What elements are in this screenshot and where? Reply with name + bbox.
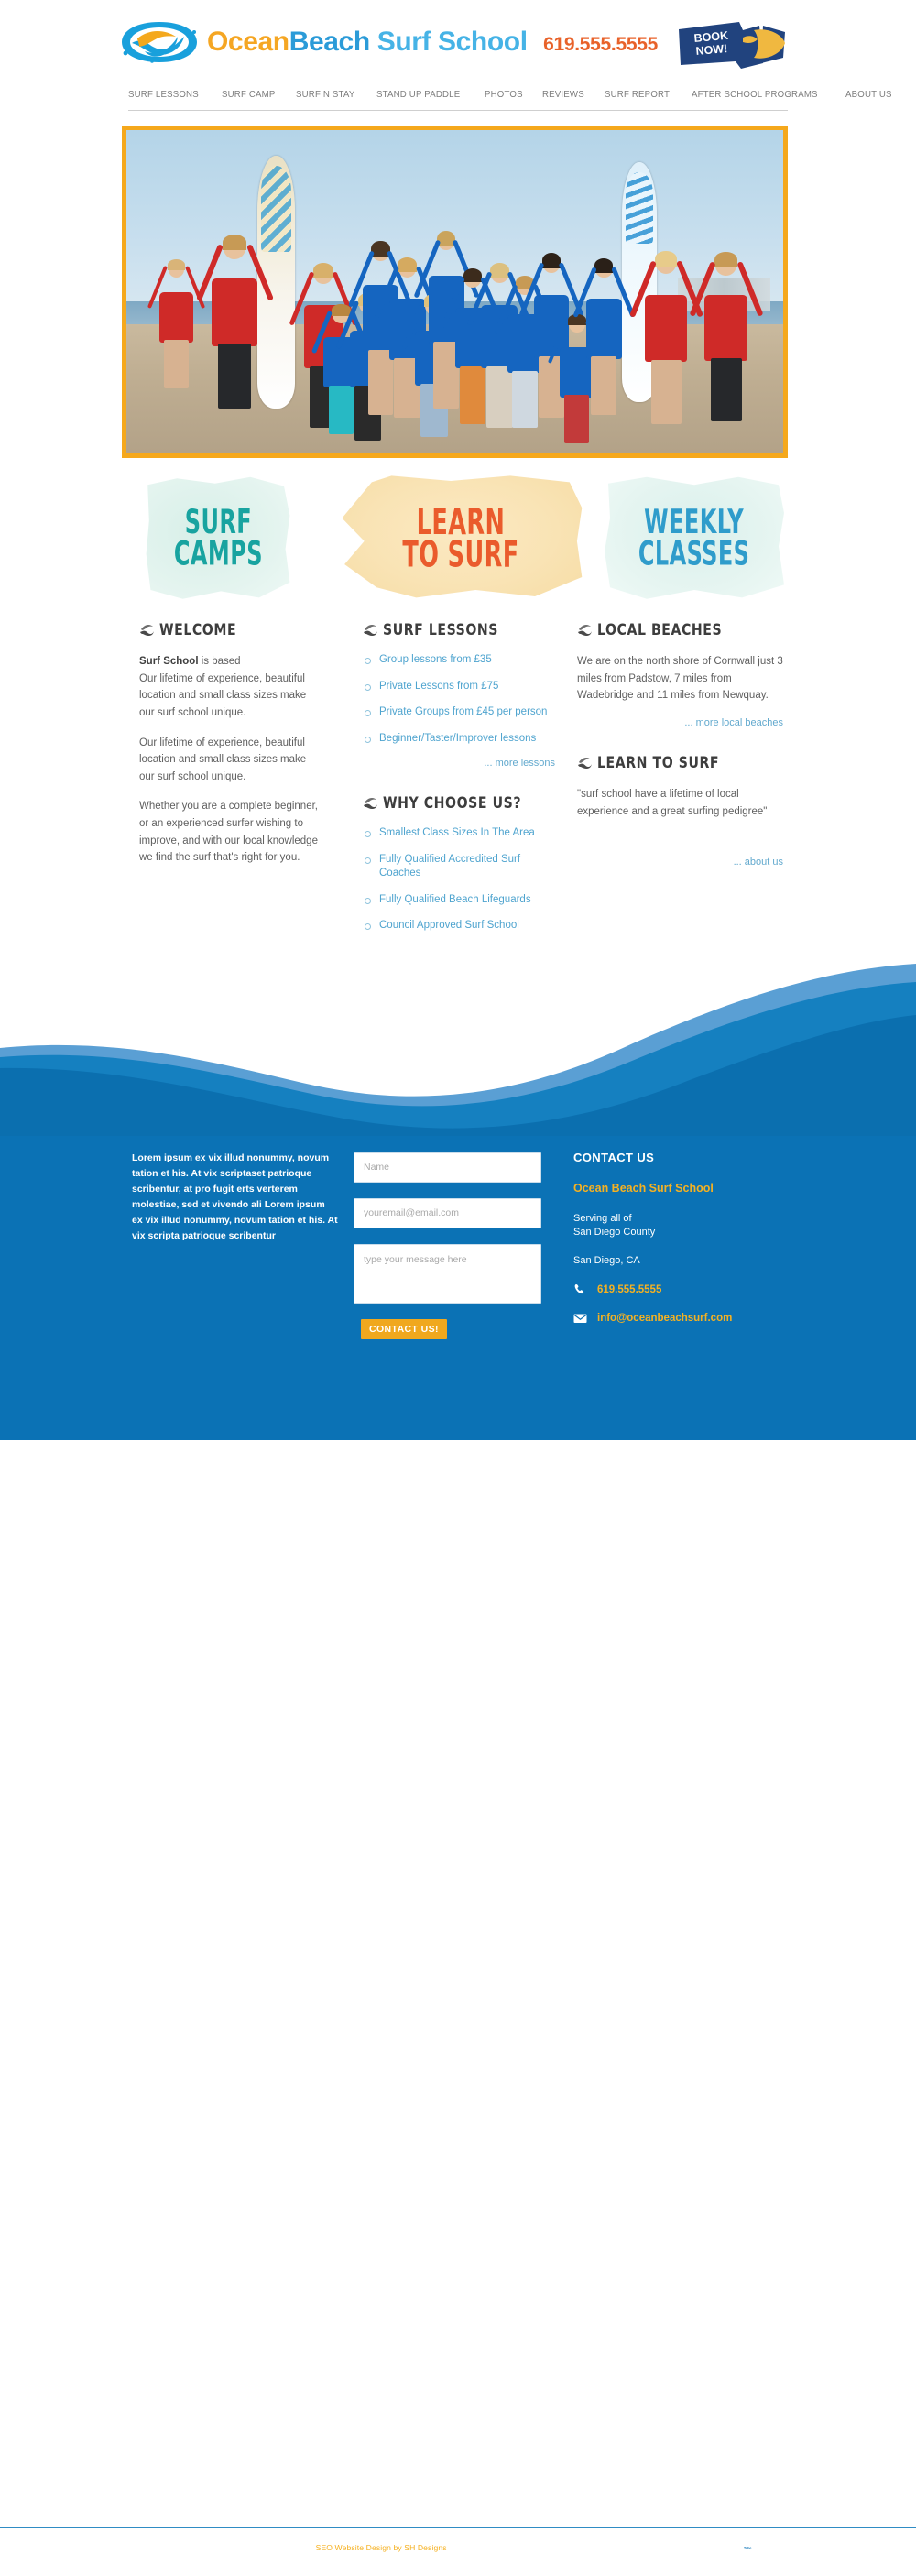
why-choose-us-list: Smallest Class Sizes In The Area Fully Q… (363, 826, 555, 933)
pinterest-icon[interactable]: 𝒫 (706, 2537, 722, 2554)
hero-banner-image[interactable] (122, 126, 788, 458)
nav-item-surf-report[interactable]: SURF REPORT (605, 89, 670, 100)
nav-item-reviews[interactable]: REVIEWS (542, 89, 584, 100)
welcome-paragraph-2: Whether you are a complete beginner, or … (139, 798, 322, 867)
promo-line-2: TO SURF (402, 533, 518, 575)
email-input[interactable] (354, 1198, 541, 1228)
wave-bullet-icon (139, 624, 154, 636)
column-lessons: SURF LESSONS Group lessons from £35 Priv… (363, 621, 555, 945)
nav-item-stand-up-paddle[interactable]: STAND UP PADDLE (376, 89, 460, 100)
hero-person (586, 299, 622, 415)
welcome-lead-bold: Surf School (139, 656, 199, 667)
welcome-paragraph-0: Our lifetime of experience, beautiful lo… (139, 673, 306, 718)
promo-banner-surf-camps[interactable]: SURF CAMPS (145, 475, 291, 603)
envelope-icon (573, 1312, 587, 1325)
contact-email-address[interactable]: info@oceanbeachsurf.com (597, 1313, 732, 1324)
site-header: OceanBeach Surf School 619.555.5555 BOOK… (0, 0, 916, 84)
about-us-link[interactable]: ... about us (577, 857, 783, 868)
learn-to-surf-quote: "surf school have a lifetime of local ex… (577, 786, 783, 820)
section-header-local-beaches: LOCAL BEACHES (577, 621, 783, 639)
wave-bullet-icon (577, 757, 592, 769)
more-local-beaches-link[interactable]: ... more local beaches (577, 717, 783, 728)
nav-item-surf-camp[interactable]: SURF CAMP (222, 89, 276, 100)
contact-school-name: Ocean Beach Surf School (573, 1182, 793, 1195)
brand-wordmark: OceanBeach Surf School (207, 27, 528, 58)
hero-person (645, 295, 687, 424)
promo-banner-label: LEARN TO SURF (402, 506, 518, 572)
contact-phone-number[interactable]: 619.555.5555 (597, 1284, 661, 1295)
contact-info-block: CONTACT US Ocean Beach Surf School Servi… (573, 1151, 793, 1340)
copyright-line: Copyright 2013 CPR Attack | All Rights R… (134, 2543, 316, 2552)
nav-item-photos[interactable]: PHOTOS (485, 89, 523, 100)
copyright-text: Copyright 2013 CPR Attack | All Rights R… (134, 2543, 447, 2552)
main-navigation: SURF LESSONS SURF CAMP SURF N STAY STAND… (128, 89, 788, 111)
column-welcome: WELCOME Surf School is based Our lifetim… (139, 621, 322, 879)
wave-divider (0, 960, 916, 1143)
section-title: WHY CHOOSE US? (383, 794, 521, 812)
serving-line-2: San Diego County (573, 1227, 655, 1238)
contact-phone-row[interactable]: 619.555.5555 (573, 1283, 793, 1296)
nav-item-after-school-programs[interactable]: AFTER SCHOOL PROGRAMS (692, 89, 818, 100)
promo-banner-weekly-classes[interactable]: WEEKLY CLASSES (603, 475, 786, 603)
hero-people-group (126, 130, 783, 453)
promo-banner-label: WEEKLY CLASSES (638, 508, 749, 569)
section-title: LOCAL BEACHES (597, 621, 722, 639)
promo-line-2: CAMPS (173, 534, 262, 573)
brand-part-beach: Beach (289, 27, 370, 57)
nav-item-surf-n-stay[interactable]: SURF N STAY (296, 89, 354, 100)
social-links: 𝒫 You Tube (706, 2537, 788, 2554)
footer-bottom-bar: Copyright 2013 CPR Attack | All Rights R… (0, 2527, 916, 2576)
list-item[interactable]: Fully Qualified Beach Lifeguards (363, 893, 555, 908)
hero-person (212, 278, 257, 408)
serving-line-1: Serving all of (573, 1213, 632, 1224)
brand-part-ocean: Ocean (207, 27, 289, 57)
brand-part-surfschool: Surf School (377, 27, 528, 57)
contact-us-title: CONTACT US (573, 1151, 793, 1164)
section-header-welcome: WELCOME (139, 621, 322, 639)
hero-photo (126, 130, 783, 453)
welcome-lead-rest: is based (199, 656, 241, 667)
more-lessons-link[interactable]: ... more lessons (363, 758, 555, 769)
list-item[interactable]: Fully Qualified Accredited Surf Coaches (363, 853, 555, 881)
column-beaches: LOCAL BEACHES We are on the north shore … (577, 621, 783, 868)
book-now-button[interactable]: BOOK NOW! (675, 17, 790, 72)
local-beaches-paragraph: We are on the north shore of Cornwall ju… (577, 653, 783, 704)
wave-bullet-icon (363, 797, 377, 809)
list-item[interactable]: Group lessons from £35 (363, 653, 555, 668)
section-header-learn-to-surf: LEARN TO SURF (577, 754, 783, 771)
hero-person (704, 295, 747, 421)
header-phone-number[interactable]: 619.555.5555 (543, 34, 658, 56)
surf-wave-logo-icon (117, 20, 202, 64)
wave-bullet-icon (577, 624, 592, 636)
welcome-lead: Surf School is based Our lifetime of exp… (139, 653, 322, 722)
surf-lessons-list: Group lessons from £35 Private Lessons f… (363, 653, 555, 746)
section-header-surf-lessons: SURF LESSONS (363, 621, 555, 639)
welcome-paragraph-1: Our lifetime of experience, beautiful lo… (139, 735, 322, 786)
phone-icon (573, 1283, 587, 1296)
list-item[interactable]: Smallest Class Sizes In The Area (363, 826, 555, 841)
list-item[interactable]: Beginner/Taster/Improver lessons (363, 732, 555, 747)
section-title: SURF LESSONS (383, 621, 498, 639)
promo-banner-label: SURF CAMPS (173, 508, 262, 569)
list-item[interactable]: Private Lessons from £75 (363, 680, 555, 694)
contact-email-row[interactable]: info@oceanbeachsurf.com (573, 1312, 793, 1325)
page-root: OceanBeach Surf School 619.555.5555 BOOK… (0, 0, 916, 1440)
section-header-why-choose-us: WHY CHOOSE US? (363, 794, 555, 812)
design-credit-link[interactable]: SEO Website Design by SH Designs (316, 2543, 447, 2552)
hero-person (159, 292, 193, 389)
promo-line-2: CLASSES (638, 534, 749, 573)
section-title: LEARN TO SURF (597, 754, 719, 771)
contact-us-submit-button[interactable]: CONTACT US! (361, 1319, 447, 1339)
name-input[interactable] (354, 1152, 541, 1183)
wave-bullet-icon (363, 624, 377, 636)
site-footer: Lorem ipsum ex vix illud nonummy, novum … (0, 1136, 916, 1440)
nav-item-surf-lessons[interactable]: SURF LESSONS (128, 89, 199, 100)
footer-about-text: Lorem ipsum ex vix illud nonummy, novum … (132, 1151, 338, 1244)
contact-form: CONTACT US! (354, 1152, 548, 1339)
site-logo[interactable]: OceanBeach Surf School (117, 20, 528, 64)
youtube-icon[interactable]: You Tube (739, 2537, 755, 2554)
facebook-icon[interactable] (772, 2537, 788, 2554)
list-item[interactable]: Private Groups from £45 per person (363, 705, 555, 720)
message-textarea[interactable] (354, 1244, 541, 1304)
nav-item-about-us[interactable]: ABOUT US (845, 89, 892, 100)
svg-text:Tube: Tube (744, 2546, 751, 2549)
contact-city: San Diego, CA (573, 1255, 793, 1266)
contact-serving-area: Serving all of San Diego County (573, 1212, 793, 1239)
list-item[interactable]: Council Approved Surf School (363, 919, 555, 933)
section-title: WELCOME (159, 621, 236, 639)
promo-banner-learn-to-surf[interactable]: LEARN TO SURF (337, 475, 584, 603)
promo-banner-row: SURF CAMPS LEARN TO SURF WEEKLY CLASSES (128, 475, 788, 603)
